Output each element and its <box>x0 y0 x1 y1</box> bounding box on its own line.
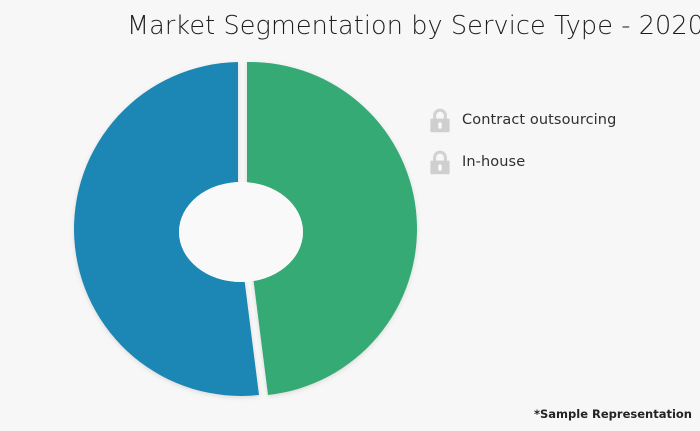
legend: Contract outsourcing In-house <box>427 99 677 183</box>
page-title: Market Segmentation by Service Type - 20… <box>127 11 700 41</box>
legend-label: In-house <box>462 154 525 170</box>
lock-icon <box>427 149 453 176</box>
legend-label: Contract outsourcing <box>462 112 616 128</box>
chart-canvas: Market Segmentation by Service Type - 20… <box>0 0 700 431</box>
legend-item-contract-outsourcing[interactable]: Contract outsourcing <box>427 99 677 141</box>
donut-center-hole <box>179 182 303 282</box>
sample-representation-note: *Sample Representation <box>534 407 692 421</box>
donut-chart <box>60 48 422 410</box>
legend-item-in-house[interactable]: In-house <box>427 141 677 183</box>
donut-chart-svg <box>60 48 422 410</box>
lock-icon <box>427 107 453 134</box>
